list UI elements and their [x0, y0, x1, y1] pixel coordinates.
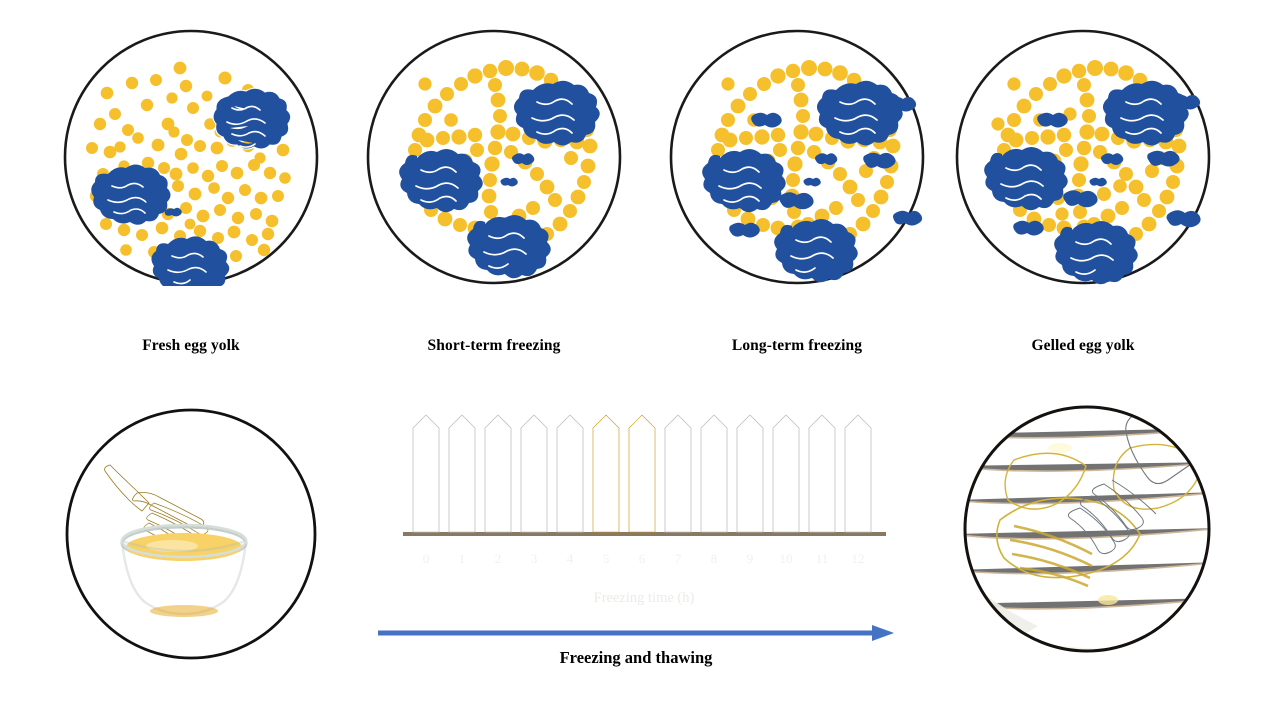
tube-label-6: 6: [639, 551, 646, 566]
freezing-time-tube-series: 0 1 2 3 4 5 6 7 8 9 10 11 12 Freezing ti…: [403, 406, 886, 618]
tube-label-1: 1: [459, 551, 466, 566]
tube-4: [555, 415, 585, 544]
tube-9: [735, 415, 765, 544]
tube-label-11: 11: [816, 551, 829, 566]
schematic-long-term-freezing: [668, 28, 926, 286]
tube-label-4: 4: [567, 551, 574, 566]
short-term-freezing-drawing: [365, 28, 623, 286]
tube-label-3: 3: [531, 551, 538, 566]
panel-label-long-term-freezing: Long-term freezing: [668, 337, 926, 355]
tube-2: [483, 415, 513, 544]
tube-series-photo: 0 1 2 3 4 5 6 7 8 9 10 11 12 Freezing ti…: [403, 406, 886, 618]
panel-label-fresh-egg-yolk: Fresh egg yolk: [62, 337, 320, 355]
liquid-yolk-illustration: [62, 405, 320, 663]
tube-5: [591, 415, 621, 544]
gelled-yolk-illustration: [962, 404, 1212, 654]
tube-1: [447, 415, 477, 544]
tube-8: [699, 415, 729, 544]
freezing-time-axis-caption: Freezing time (h): [594, 590, 695, 606]
tube-label-0: 0: [423, 551, 430, 566]
process-arrow-caption: Freezing and thawing: [376, 648, 896, 668]
photo-content: [962, 404, 1212, 654]
tube-11: [807, 415, 837, 544]
tube-label-2: 2: [495, 551, 502, 566]
panel-label-short-term-freezing: Short-term freezing: [365, 337, 623, 355]
panel-label-gelled-egg-yolk: Gelled egg yolk: [954, 337, 1212, 355]
gelled-egg-yolk-photo: [962, 404, 1212, 654]
tube-label-8: 8: [711, 551, 718, 566]
tube-12: [843, 415, 873, 544]
tube-7: [663, 415, 693, 544]
tube-label-7: 7: [675, 551, 682, 566]
long-term-freezing-drawing: [668, 28, 926, 286]
arrow-right-icon: [376, 624, 896, 642]
tube-6: [627, 415, 657, 544]
gelled-egg-yolk-drawing: [954, 28, 1212, 286]
tube-label-10: 10: [780, 551, 793, 566]
liquid-egg-yolk-photo: [62, 405, 320, 663]
tube-label-9: 9: [747, 551, 754, 566]
tube-label-12: 12: [852, 551, 865, 566]
tube-0: [411, 415, 441, 544]
process-arrow: [376, 624, 896, 642]
fresh-egg-yolk-drawing: [62, 28, 320, 286]
schematic-short-term-freezing: [365, 28, 623, 286]
schematic-fresh-egg-yolk: [62, 28, 320, 286]
tube-10: [771, 415, 801, 544]
tube-3: [519, 415, 549, 544]
tube-label-5: 5: [603, 551, 610, 566]
schematic-gelled-egg-yolk: [954, 28, 1212, 286]
